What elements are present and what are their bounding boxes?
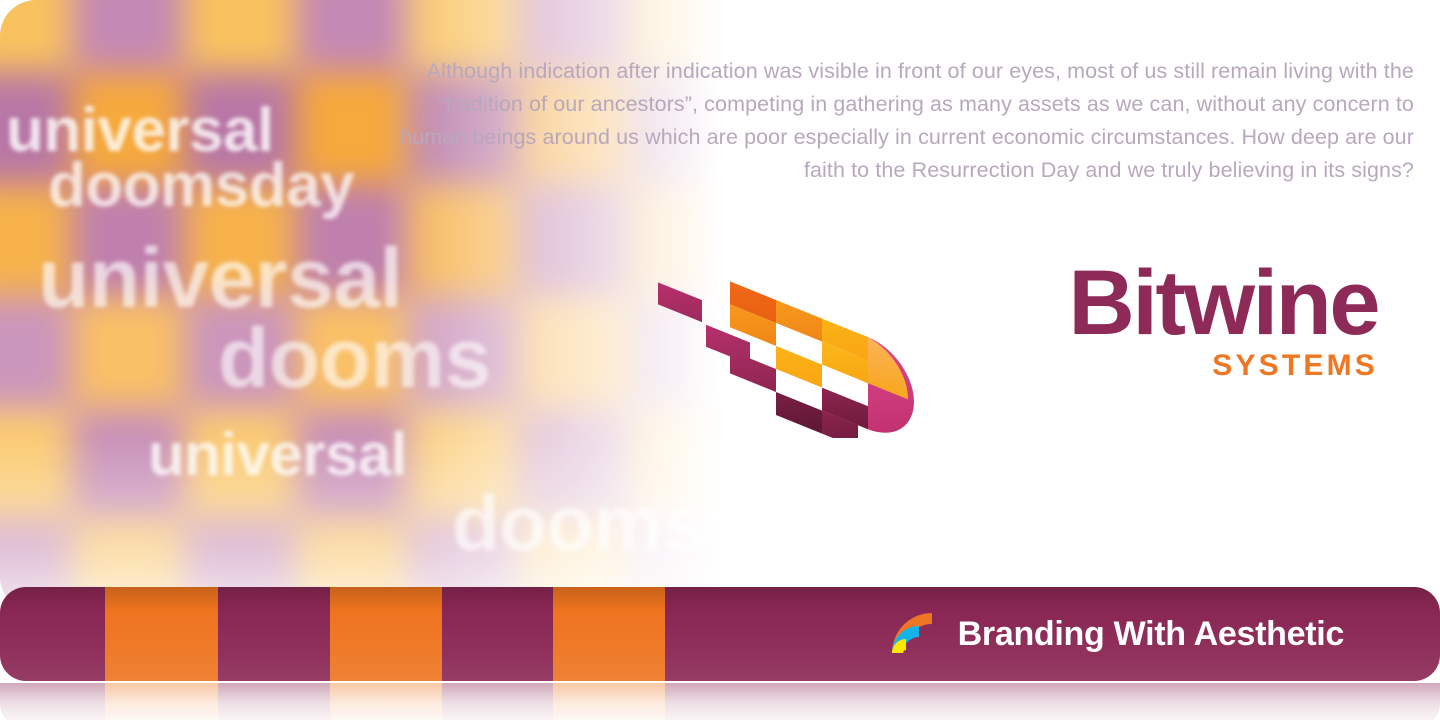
checker-cell	[184, 296, 296, 408]
checker-cell	[0, 296, 72, 408]
checker-cell	[520, 408, 632, 520]
checker-cell	[72, 72, 184, 184]
footer-bar: Branding With Aesthetic	[0, 587, 1440, 681]
brand-subtitle: SYSTEMS	[960, 349, 1378, 383]
footer-tagline-text: Branding With Aesthetic	[958, 617, 1344, 651]
checker-cell	[296, 184, 408, 296]
footer-accent-block	[330, 587, 442, 681]
bitwine-checker-d-mark-icon	[648, 238, 948, 438]
brand-wordmark: Bitwine SYSTEMS	[960, 260, 1378, 383]
checker-cell	[408, 296, 520, 408]
checker-cell	[408, 408, 520, 520]
checker-cell	[72, 408, 184, 520]
checker-cell	[0, 408, 72, 520]
checker-cell	[184, 408, 296, 520]
checker-cell	[184, 184, 296, 296]
checker-cell	[296, 408, 408, 520]
checker-cell	[72, 296, 184, 408]
checker-cell	[0, 0, 72, 72]
checker-cell	[520, 184, 632, 296]
checker-cell	[0, 184, 72, 296]
reflection-fade	[0, 683, 1440, 720]
footer-accent-block	[553, 587, 665, 681]
checker-cell	[184, 72, 296, 184]
checker-cell	[296, 296, 408, 408]
checker-cell	[408, 184, 520, 296]
checker-cell	[72, 184, 184, 296]
footer-reflection	[0, 683, 1440, 720]
footer-accent-block	[105, 587, 218, 681]
banner-stage: universal doomsday universal dooms unive…	[0, 0, 1440, 720]
brand-name: Bitwine	[960, 260, 1378, 347]
checker-cell	[72, 0, 184, 72]
footer-tagline: Branding With Aesthetic	[886, 605, 1344, 663]
banner-paragraph: Although indication after indication was…	[388, 55, 1414, 187]
checker-cell	[184, 0, 296, 72]
rainbow-arc-icon	[886, 607, 940, 662]
brand-logo: Bitwine SYSTEMS	[648, 238, 1378, 458]
banner-card: universal doomsday universal dooms unive…	[0, 0, 1440, 612]
checker-cell	[0, 72, 72, 184]
checker-cell	[520, 296, 632, 408]
